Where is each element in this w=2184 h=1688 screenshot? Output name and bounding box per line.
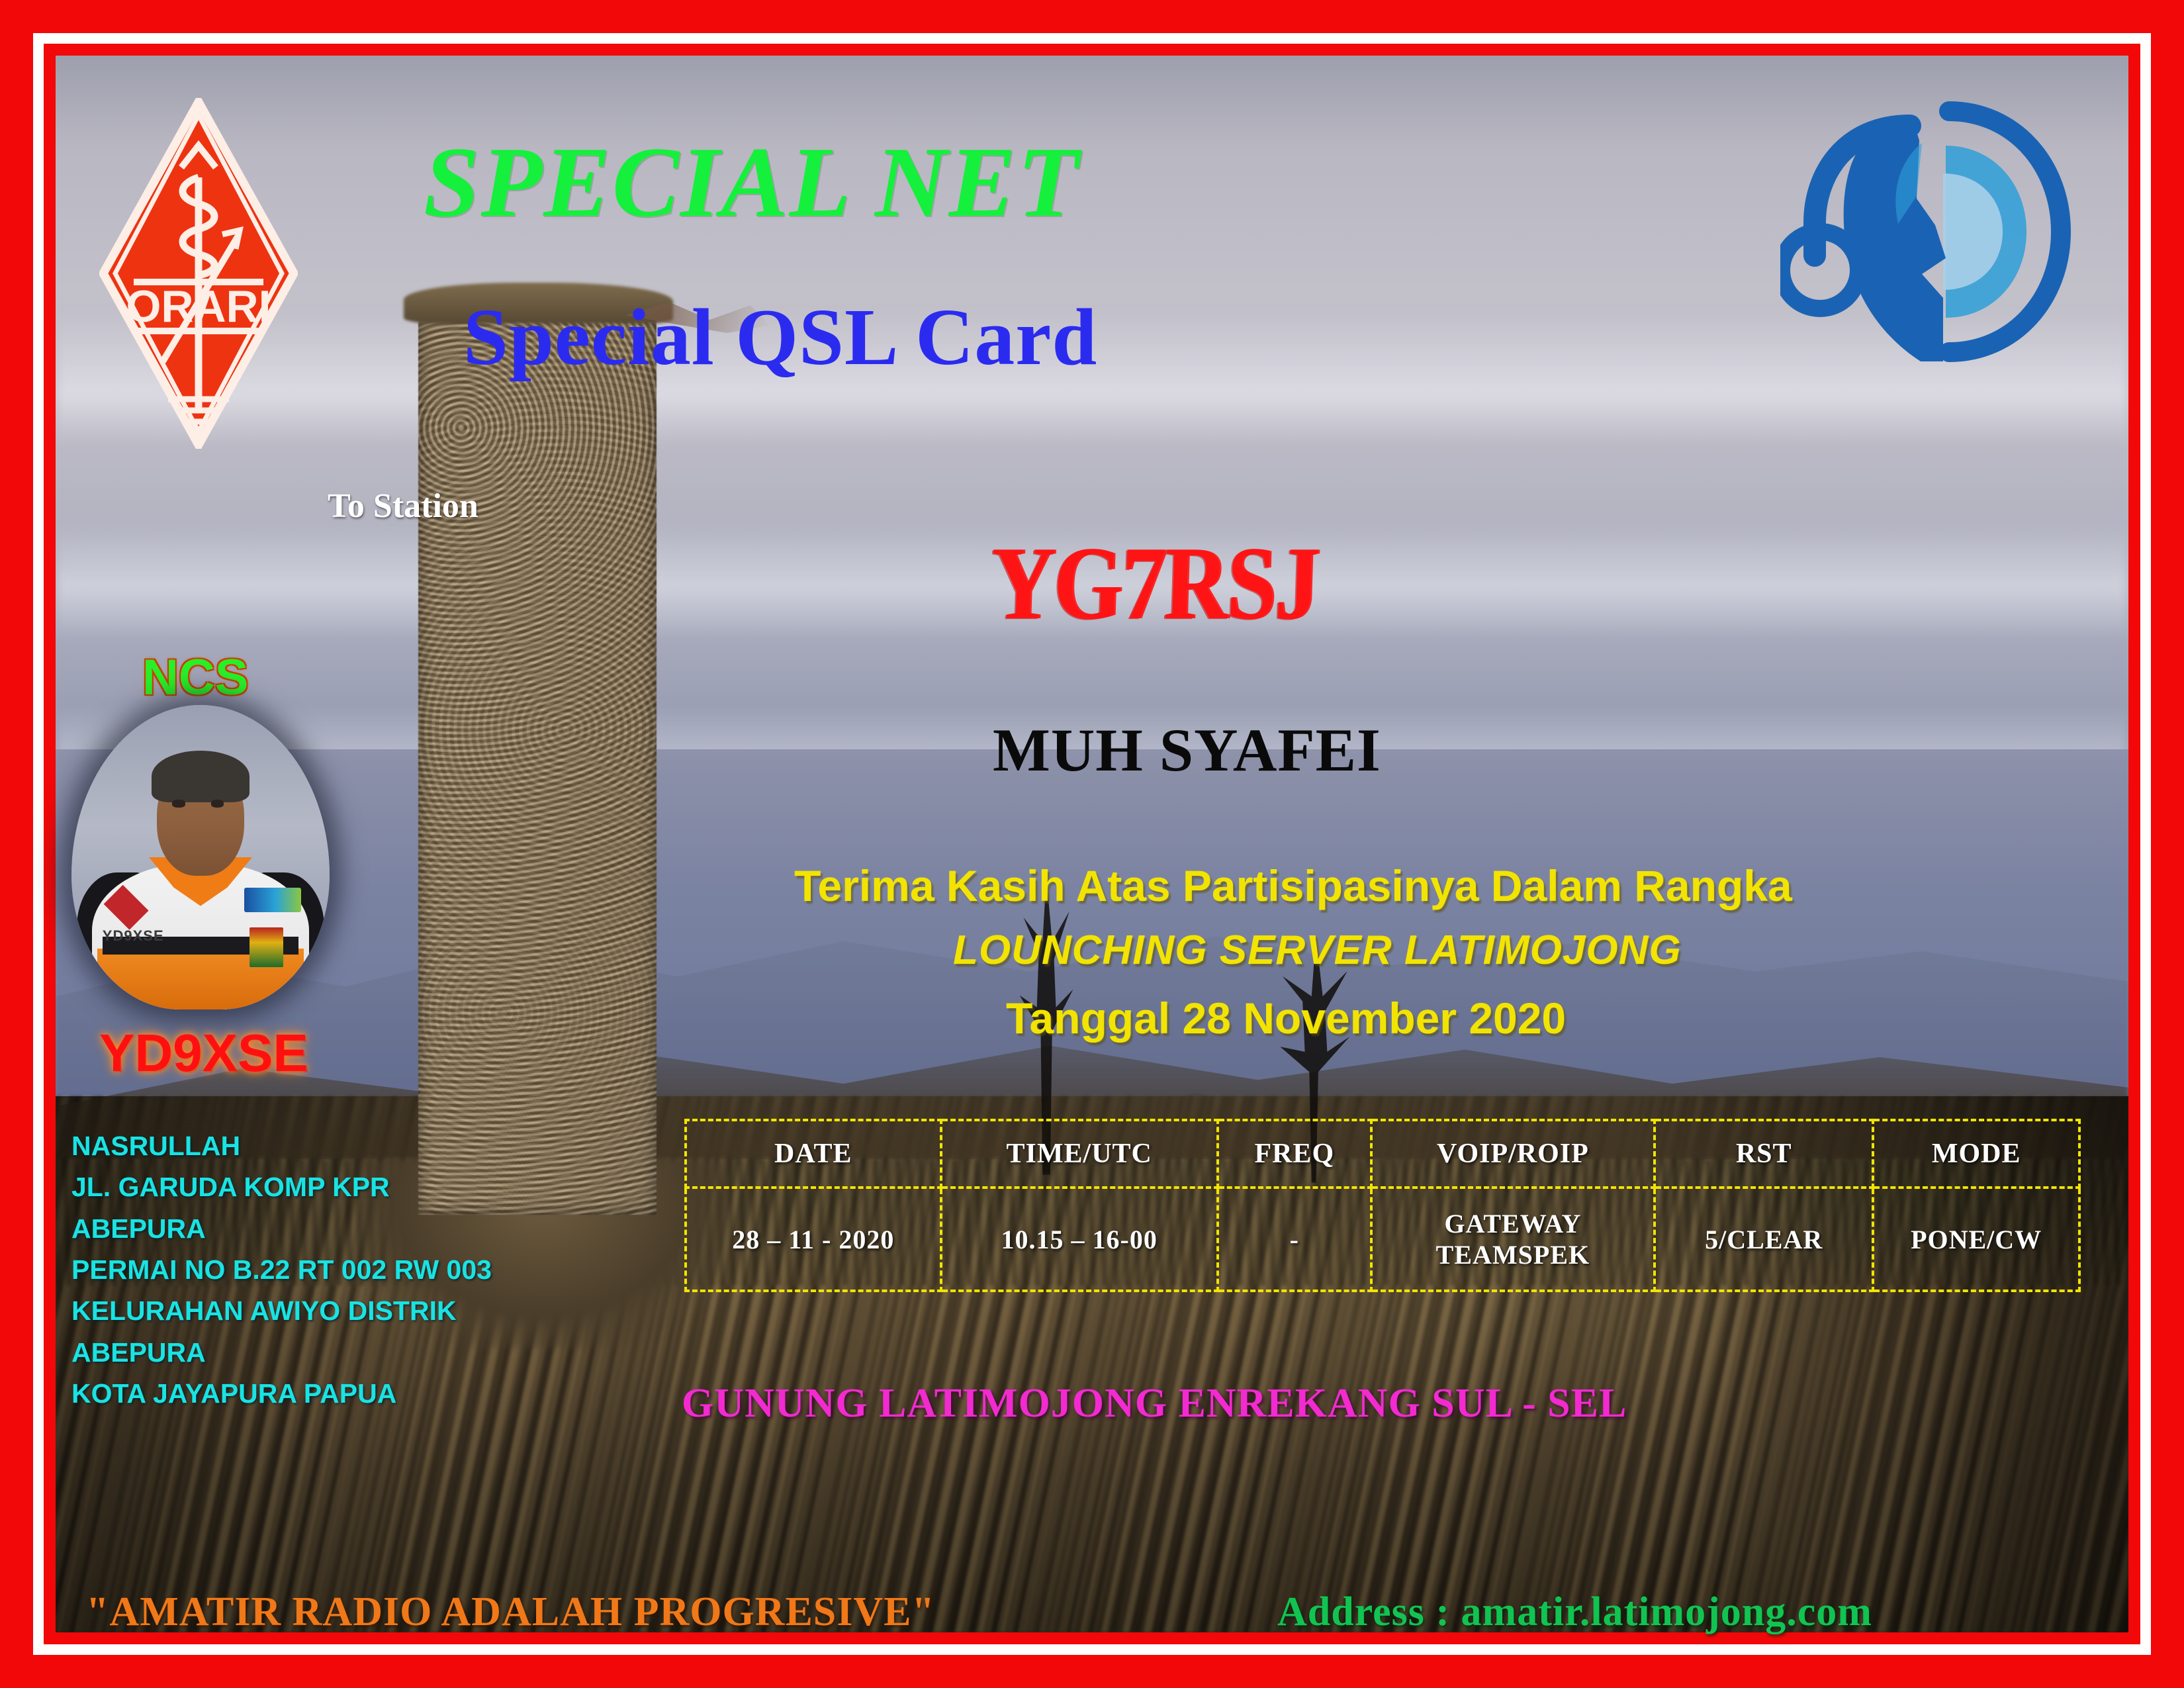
header-rst: RST — [1655, 1120, 1873, 1188]
cell-date: 28 – 11 - 2020 — [686, 1188, 941, 1291]
header-freq: FREQ — [1218, 1120, 1371, 1188]
footer-slogan: "AMATIR RADIO ADALAH PROGRESIVE" — [86, 1589, 935, 1636]
cell-mode: PONE/CW — [1873, 1188, 2079, 1291]
location-line: GUNUNG LATIMOJONG ENREKANG SUL - SEL — [682, 1380, 1627, 1427]
to-station-label: To Station — [328, 487, 478, 526]
cell-voip-line2: TEAMSPEK — [1373, 1239, 1653, 1270]
cell-rst: 5/CLEAR — [1655, 1188, 1873, 1291]
photo-eye-left — [172, 800, 185, 808]
ncs-label: NCS — [142, 649, 248, 706]
event-thanks-line: Terima Kasih Atas Partisipasinya Dalam R… — [794, 861, 1792, 911]
headset-profile-logo — [1780, 99, 2071, 364]
orari-wordmark: ORARI — [126, 281, 271, 332]
cell-time: 10.15 – 16-00 — [941, 1188, 1218, 1291]
title-special-net: SPECIAL NET — [424, 124, 1080, 240]
header-time: TIME/UTC — [941, 1120, 1218, 1188]
table-header-row: DATE TIME/UTC FREQ VOIP/ROIP RST MODE — [686, 1120, 2079, 1188]
operator-name: MUH SYAFEI — [993, 715, 1381, 785]
address-line: ABEPURA — [71, 1332, 588, 1373]
stone-monument — [418, 300, 657, 1215]
event-title-line: LOUNCHING SERVER LATIMOJONG — [953, 927, 1682, 974]
station-callsign: YG7RSJ — [989, 523, 1320, 643]
address-line: ABEPURA — [71, 1208, 588, 1249]
footer-website-address: Address : amatir.latimojong.com — [1277, 1589, 1872, 1636]
address-line: PERMAI NO B.22 RT 002 RW 003 — [71, 1249, 588, 1290]
subtitle-special-qsl-card: Special QSL Card — [463, 291, 1097, 384]
ncs-operator-photo: YD9XSE — [71, 705, 330, 1009]
header-mode: MODE — [1873, 1120, 2079, 1188]
table-row: 28 – 11 - 2020 10.15 – 16-00 - GATEWAY T… — [686, 1188, 2079, 1291]
header-date: DATE — [686, 1120, 941, 1188]
address-line: KOTA JAYAPURA PAPUA — [71, 1373, 588, 1414]
ncs-callsign: YD9XSE — [99, 1023, 308, 1084]
address-line: JL. GARUDA KOMP KPR — [71, 1166, 588, 1207]
cell-freq: - — [1218, 1188, 1371, 1291]
qso-log-table: DATE TIME/UTC FREQ VOIP/ROIP RST MODE 28… — [684, 1119, 2081, 1292]
return-address-block: NASRULLAH JL. GARUDA KOMP KPR ABEPURA PE… — [71, 1125, 588, 1414]
address-line: KELURAHAN AWIYO DISTRIK — [71, 1290, 588, 1331]
photo-id-card — [250, 927, 283, 967]
cell-voip-line1: GATEWAY — [1373, 1208, 1653, 1239]
photo-patch — [244, 888, 301, 912]
photo-hair — [152, 751, 250, 802]
photo-shirt-callsign: YD9XSE — [103, 927, 164, 945]
photo-eye-right — [211, 800, 224, 808]
orari-logo: ORARI — [99, 98, 298, 449]
event-date-line: Tanggal 28 November 2020 — [1006, 993, 1566, 1043]
cell-voip: GATEWAY TEAMSPEK — [1371, 1188, 1655, 1291]
header-voip: VOIP/ROIP — [1371, 1120, 1655, 1188]
address-line: NASRULLAH — [71, 1125, 588, 1166]
qsl-card: ORARI SPECIAL NET Special QSL Card To St… — [0, 0, 2184, 1688]
